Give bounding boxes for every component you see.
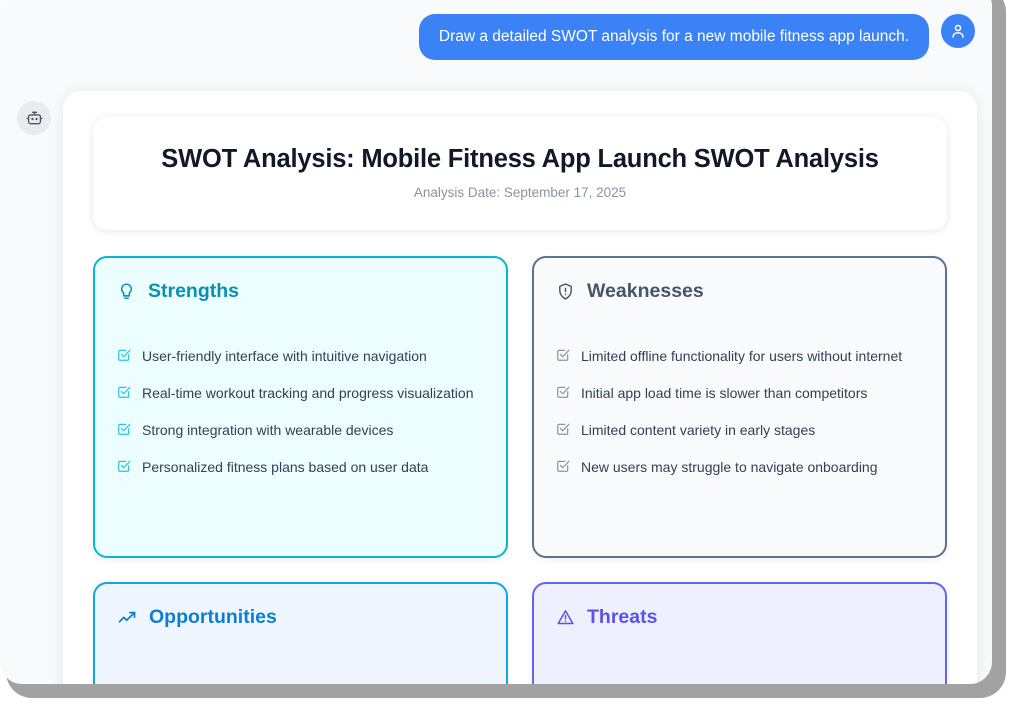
list-item: Limited content variety in early stages (556, 421, 923, 441)
swot-card-strengths[interactable]: Strengths User-friendly interface with i… (93, 256, 508, 558)
check-square-icon (117, 459, 131, 478)
list-item: Limited offline functionality for users … (556, 347, 923, 367)
check-square-icon (556, 385, 570, 404)
card-title: Opportunities (149, 606, 277, 629)
check-square-icon (556, 348, 570, 367)
card-title: Threats (587, 606, 657, 629)
list-item: Personalized fitness plans based on user… (117, 458, 484, 478)
list-item-label: Personalized fitness plans based on user… (142, 458, 428, 477)
list-item-label: Real-time workout tracking and progress … (142, 384, 473, 403)
chat-message-assistant: SWOT Analysis: Mobile Fitness App Launch… (17, 91, 977, 684)
list-item: User-friendly interface with intuitive n… (117, 347, 484, 367)
check-square-icon (556, 459, 570, 478)
report-subtitle: Analysis Date: September 17, 2025 (113, 185, 927, 200)
card-header: Opportunities (117, 606, 484, 629)
alert-triangle-icon (556, 608, 575, 627)
report-header: SWOT Analysis: Mobile Fitness App Launch… (93, 117, 947, 230)
list-item: Real-time workout tracking and progress … (117, 384, 484, 404)
list-item-label: Limited content variety in early stages (581, 421, 815, 440)
weaknesses-list: Limited offline functionality for users … (556, 347, 923, 478)
card-title: Strengths (148, 280, 239, 303)
robot-icon (17, 101, 51, 135)
list-item-label: New users may struggle to navigate onboa… (581, 458, 878, 477)
shield-alert-icon (556, 282, 575, 301)
check-square-icon (117, 422, 131, 441)
app-window: Draw a detailed SWOT analysis for a new … (0, 0, 992, 684)
lightbulb-icon (117, 282, 136, 301)
list-item-label: Limited offline functionality for users … (581, 347, 902, 366)
list-item-label: Initial app load time is slower than com… (581, 384, 867, 403)
card-header: Weaknesses (556, 280, 923, 303)
swot-card-threats[interactable]: Threats (532, 582, 947, 684)
card-title: Weaknesses (587, 280, 704, 303)
list-item: Initial app load time is slower than com… (556, 384, 923, 404)
check-square-icon (117, 348, 131, 367)
strengths-list: User-friendly interface with intuitive n… (117, 347, 484, 478)
page-title: SWOT Analysis: Mobile Fitness App Launch… (113, 145, 927, 174)
check-square-icon (556, 422, 570, 441)
card-header: Threats (556, 606, 923, 629)
swot-grid: Strengths User-friendly interface with i… (93, 256, 947, 684)
swot-card-weaknesses[interactable]: Weaknesses Limited offline functionality… (532, 256, 947, 558)
list-item: New users may struggle to navigate onboa… (556, 458, 923, 478)
trending-up-icon (117, 608, 137, 628)
swot-card-opportunities[interactable]: Opportunities (93, 582, 508, 684)
list-item: Strong integration with wearable devices (117, 421, 484, 441)
card-header: Strengths (117, 280, 484, 303)
swot-report-card: SWOT Analysis: Mobile Fitness App Launch… (63, 91, 977, 684)
user-message-bubble: Draw a detailed SWOT analysis for a new … (419, 14, 929, 60)
list-item-label: Strong integration with wearable devices (142, 421, 393, 440)
person-icon (941, 14, 975, 48)
list-item-label: User-friendly interface with intuitive n… (142, 347, 427, 366)
chat-message-user: Draw a detailed SWOT analysis for a new … (0, 14, 992, 60)
check-square-icon (117, 385, 131, 404)
